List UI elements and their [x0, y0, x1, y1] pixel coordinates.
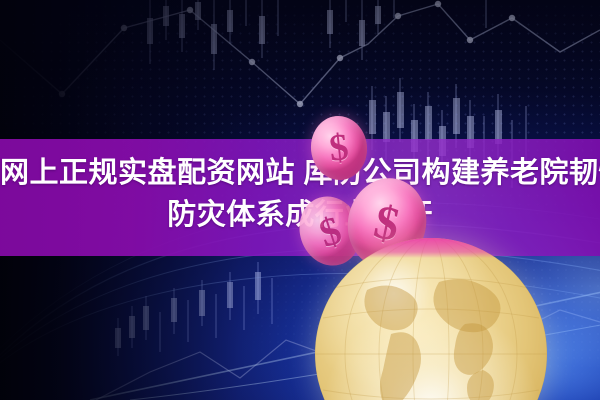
headline-line-1: 网上正规实盘配资网站 库防公司构建养老院韧性: [0, 152, 600, 194]
globe-pink-highlight: [315, 238, 547, 258]
globe-landmass: [364, 279, 500, 400]
banner-image: $ $ $: [0, 0, 600, 400]
line-chart-nodes: [0, 1, 600, 107]
globe-graticule: [315, 238, 547, 400]
dollar-sign-icon: $: [327, 125, 350, 171]
world-globe: [315, 238, 547, 400]
